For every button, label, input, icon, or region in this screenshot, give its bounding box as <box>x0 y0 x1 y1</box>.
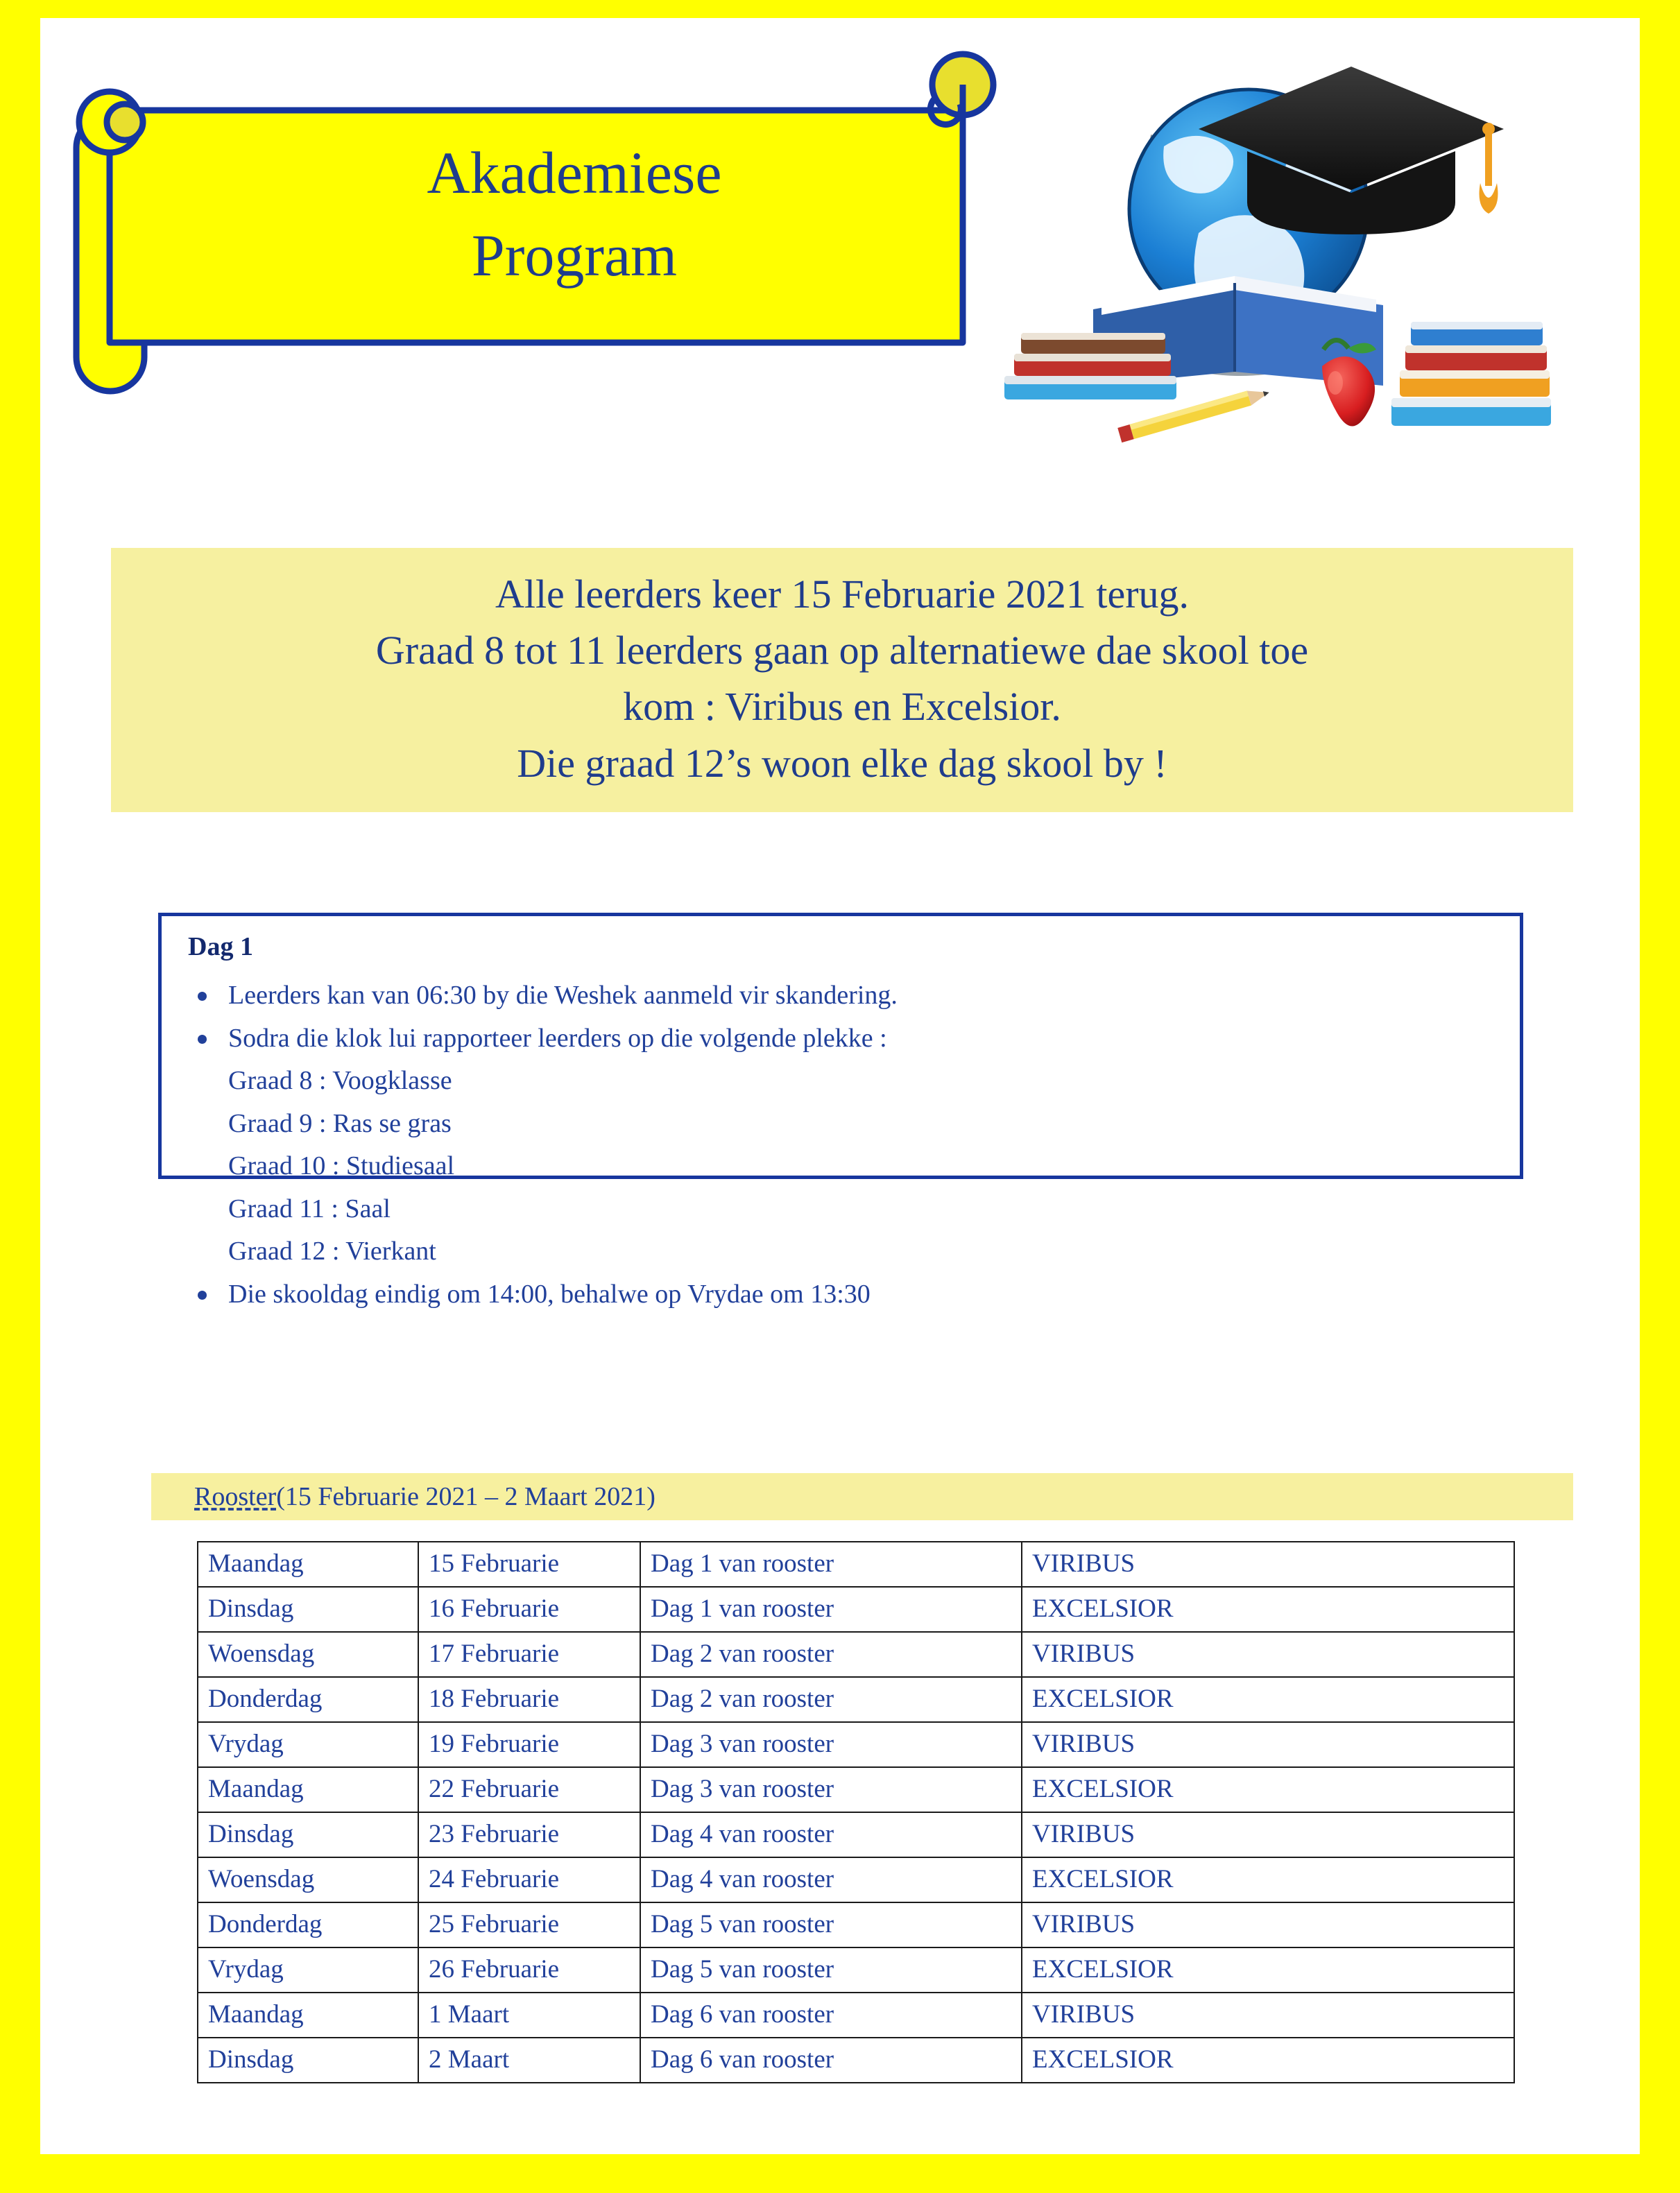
cell-rooster: Dag 3 van rooster <box>640 1722 1022 1767</box>
cell-rooster: Dag 1 van rooster <box>640 1542 1022 1587</box>
day-one-heading: Dag 1 <box>188 931 1499 962</box>
day-one-box: Dag 1 Leerders kan van 06:30 by die Wesh… <box>158 913 1523 1179</box>
table-row: Maandag 1 Maart Dag 6 van rooster VIRIBU… <box>198 1993 1514 2038</box>
cell-group: EXCELSIOR <box>1022 1587 1514 1632</box>
table-row: Vrydag 19 Februarie Dag 3 van rooster VI… <box>198 1722 1514 1767</box>
cell-rooster: Dag 6 van rooster <box>640 2038 1022 2083</box>
schedule-table: Maandag 15 Februarie Dag 1 van rooster V… <box>197 1541 1515 2083</box>
list-item: Graad 11 : Saal <box>182 1188 1499 1231</box>
cell-date: 22 Februarie <box>418 1767 640 1812</box>
cell-group: VIRIBUS <box>1022 1993 1514 2038</box>
cell-rooster: Dag 4 van rooster <box>640 1857 1022 1902</box>
cell-date: 16 Februarie <box>418 1587 640 1632</box>
table-row: Maandag 22 Februarie Dag 3 van rooster E… <box>198 1767 1514 1812</box>
cell-date: 19 Februarie <box>418 1722 640 1767</box>
table-row: Dinsdag 16 Februarie Dag 1 van rooster E… <box>198 1587 1514 1632</box>
cell-day: Donderdag <box>198 1902 418 1947</box>
poster-page: Akademiese Program <box>0 0 1680 2193</box>
cell-rooster: Dag 1 van rooster <box>640 1587 1022 1632</box>
table-row: Dinsdag 2 Maart Dag 6 van rooster EXCELS… <box>198 2038 1514 2083</box>
cell-group: VIRIBUS <box>1022 1542 1514 1587</box>
cell-group: VIRIBUS <box>1022 1722 1514 1767</box>
announcement-line: Graad 8 tot 11 leerders gaan op alternat… <box>125 622 1559 678</box>
cell-rooster: Dag 2 van rooster <box>640 1677 1022 1722</box>
table-row: Dinsdag 23 Februarie Dag 4 van rooster V… <box>198 1812 1514 1857</box>
cell-rooster: Dag 4 van rooster <box>640 1812 1022 1857</box>
cell-date: 26 Februarie <box>418 1947 640 1993</box>
schedule-table-body: Maandag 15 Februarie Dag 1 van rooster V… <box>198 1542 1514 2083</box>
cell-date: 25 Februarie <box>418 1902 640 1947</box>
cell-group: EXCELSIOR <box>1022 1857 1514 1902</box>
list-item: Graad 8 : Voogklasse <box>182 1060 1499 1103</box>
list-item: Die skooldag eindig om 14:00, behalwe op… <box>182 1273 1499 1316</box>
list-item: Graad 12 : Vierkant <box>182 1230 1499 1273</box>
table-row: Donderdag 25 Februarie Dag 5 van rooster… <box>198 1902 1514 1947</box>
table-row: Donderdag 18 Februarie Dag 2 van rooster… <box>198 1677 1514 1722</box>
cell-rooster: Dag 3 van rooster <box>640 1767 1022 1812</box>
cell-day: Vrydag <box>198 1722 418 1767</box>
table-row: Woensdag 17 Februarie Dag 2 van rooster … <box>198 1632 1514 1677</box>
cell-date: 2 Maart <box>418 2038 640 2083</box>
book-stack-right-icon <box>1391 322 1551 426</box>
cell-group: VIRIBUS <box>1022 1902 1514 1947</box>
cell-date: 1 Maart <box>418 1993 640 2038</box>
cell-date: 15 Februarie <box>418 1542 640 1587</box>
table-row: Woensdag 24 Februarie Dag 4 van rooster … <box>198 1857 1514 1902</box>
cell-rooster: Dag 5 van rooster <box>640 1947 1022 1993</box>
education-clipart <box>991 25 1552 455</box>
list-item: Leerders kan van 06:30 by die Weshek aan… <box>182 974 1499 1017</box>
book-stack-left-icon <box>1004 333 1176 399</box>
cell-day: Maandag <box>198 1993 418 2038</box>
cell-rooster: Dag 6 van rooster <box>640 1993 1022 2038</box>
day-one-list: Leerders kan van 06:30 by die Weshek aan… <box>182 974 1499 1316</box>
cell-day: Dinsdag <box>198 2038 418 2083</box>
list-item: Graad 10 : Studiesaal <box>182 1145 1499 1188</box>
list-item: Sodra die klok lui rapporteer leerders o… <box>182 1017 1499 1060</box>
cell-group: EXCELSIOR <box>1022 1677 1514 1722</box>
cell-day: Woensdag <box>198 1632 418 1677</box>
cell-day: Donderdag <box>198 1677 418 1722</box>
cell-group: EXCELSIOR <box>1022 1767 1514 1812</box>
cell-group: EXCELSIOR <box>1022 1947 1514 1993</box>
scroll-banner: Akademiese Program <box>61 44 1018 419</box>
cell-day: Dinsdag <box>198 1812 418 1857</box>
schedule-heading: Rooster (15 Februarie 2021 – 2 Maart 202… <box>151 1473 1573 1520</box>
schedule-table-wrap: Maandag 15 Februarie Dag 1 van rooster V… <box>197 1541 1430 2083</box>
cell-date: 18 Februarie <box>418 1677 640 1722</box>
schedule-heading-range: (15 Februarie 2021 – 2 Maart 2021) <box>276 1481 655 1512</box>
cell-day: Woensdag <box>198 1857 418 1902</box>
header-zone: Akademiese Program <box>40 18 1640 476</box>
cell-group: EXCELSIOR <box>1022 2038 1514 2083</box>
cell-date: 17 Februarie <box>418 1632 640 1677</box>
table-row: Maandag 15 Februarie Dag 1 van rooster V… <box>198 1542 1514 1587</box>
announcement-line: Alle leerders keer 15 Februarie 2021 ter… <box>125 566 1559 622</box>
cell-group: VIRIBUS <box>1022 1812 1514 1857</box>
announcement-line: Die graad 12’s woon elke dag skool by ! <box>125 735 1559 791</box>
cell-rooster: Dag 2 van rooster <box>640 1632 1022 1677</box>
list-item: Graad 9 : Ras se gras <box>182 1103 1499 1146</box>
announcement-line: kom : Viribus en Excelsior. <box>125 678 1559 734</box>
cell-day: Maandag <box>198 1542 418 1587</box>
cell-day: Maandag <box>198 1767 418 1812</box>
cell-date: 23 Februarie <box>418 1812 640 1857</box>
cell-group: VIRIBUS <box>1022 1632 1514 1677</box>
cell-day: Vrydag <box>198 1947 418 1993</box>
schedule-heading-label: Rooster <box>194 1481 276 1512</box>
page-sheet: Akademiese Program <box>40 18 1640 2154</box>
cell-rooster: Dag 5 van rooster <box>640 1902 1022 1947</box>
table-row: Vrydag 26 Februarie Dag 5 van rooster EX… <box>198 1947 1514 1993</box>
cell-date: 24 Februarie <box>418 1857 640 1902</box>
cell-day: Dinsdag <box>198 1587 418 1632</box>
announcement-block: Alle leerders keer 15 Februarie 2021 ter… <box>111 548 1573 812</box>
